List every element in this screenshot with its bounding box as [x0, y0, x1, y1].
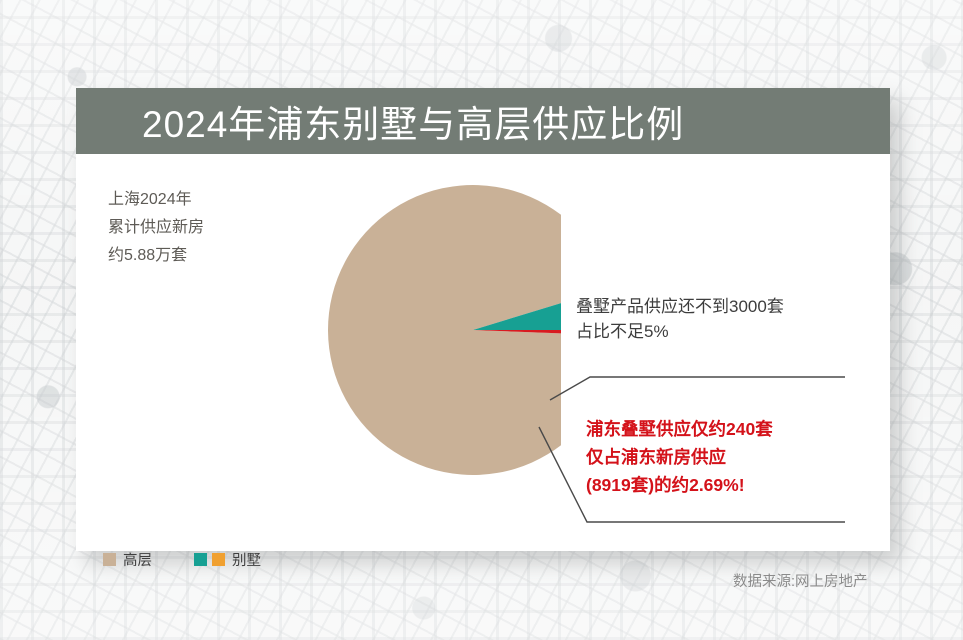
data-source-note: 数据来源:网上房地产	[733, 570, 868, 591]
left-caption-line-2: 累计供应新房	[108, 214, 258, 242]
leader-line-top	[550, 377, 845, 400]
infographic-card: 2024年浦东别墅与高层供应比例 上海2024年 累计供应新房 约5.88万套	[76, 88, 890, 551]
legend-label-highrise: 高层	[123, 549, 152, 570]
legend-swatch-villa-teal	[194, 553, 207, 566]
legend-item-villa[interactable]: 别墅	[194, 549, 261, 570]
pie-chart	[241, 174, 561, 484]
callout-top-line-2: 占比不足5%	[576, 319, 876, 344]
callout-bottom-line-2: 仅占浦东新房供应	[586, 443, 886, 471]
chart-legend: 高层 别墅	[103, 549, 261, 570]
card-body: 上海2024年 累计供应新房 约5.88万套 叠墅产品供应还不到3000套 占比…	[76, 154, 890, 551]
pie-chart-svg	[241, 174, 561, 484]
left-caption-line-3: 约5.88万套	[108, 242, 258, 270]
callout-villa-supply: 叠墅产品供应还不到3000套 占比不足5%	[576, 294, 876, 344]
left-caption-line-1: 上海2024年	[108, 186, 258, 214]
page-title: 2024年浦东别墅与高层供应比例	[142, 94, 684, 148]
legend-swatch-highrise	[103, 553, 116, 566]
callout-bottom-line-1: 浦东叠墅供应仅约240套	[586, 415, 886, 443]
left-caption: 上海2024年 累计供应新房 约5.88万套	[108, 186, 258, 270]
callout-top-line-1: 叠墅产品供应还不到3000套	[576, 294, 876, 319]
legend-swatch-pair-villa	[194, 553, 225, 566]
legend-item-highrise[interactable]: 高层	[103, 549, 152, 570]
legend-spacer	[152, 559, 194, 560]
callout-pudong-stacked-villa: 浦东叠墅供应仅约240套 仅占浦东新房供应 (8919套)的约2.69%!	[586, 415, 886, 499]
callout-bottom-line-3: (8919套)的约2.69%!	[586, 471, 886, 499]
legend-label-villa: 别墅	[232, 549, 261, 570]
title-band: 2024年浦东别墅与高层供应比例	[76, 88, 890, 154]
legend-swatch-villa-orange	[212, 553, 225, 566]
